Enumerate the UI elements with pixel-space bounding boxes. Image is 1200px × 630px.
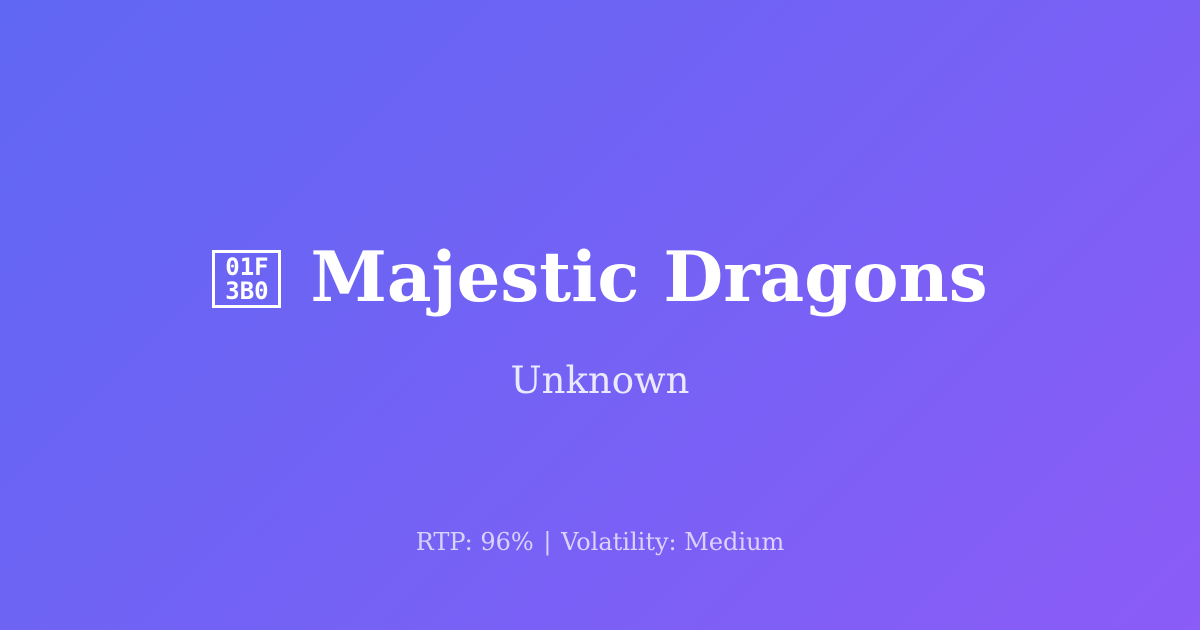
- volatility-value: Medium: [684, 528, 784, 556]
- slot-machine-icon-codepoint-bottom: 3B0: [225, 279, 268, 303]
- provider-subtitle: Unknown: [0, 362, 1200, 399]
- slot-machine-icon: 01F 3B0: [212, 250, 281, 308]
- rtp-label: RTP:: [416, 528, 473, 556]
- rtp-value: 96%: [480, 528, 533, 556]
- title-row: 01F 3B0 Majestic Dragons: [0, 232, 1200, 322]
- slot-machine-icon-codepoint-top: 01F: [225, 255, 268, 279]
- page-title: Majestic Dragons: [310, 243, 987, 312]
- stats-separator: |: [541, 528, 553, 556]
- volatility-label: Volatility:: [561, 528, 677, 556]
- game-stats-line: RTP: 96% | Volatility: Medium: [0, 530, 1200, 554]
- game-promo-card: 01F 3B0 Majestic Dragons Unknown RTP: 96…: [0, 0, 1200, 630]
